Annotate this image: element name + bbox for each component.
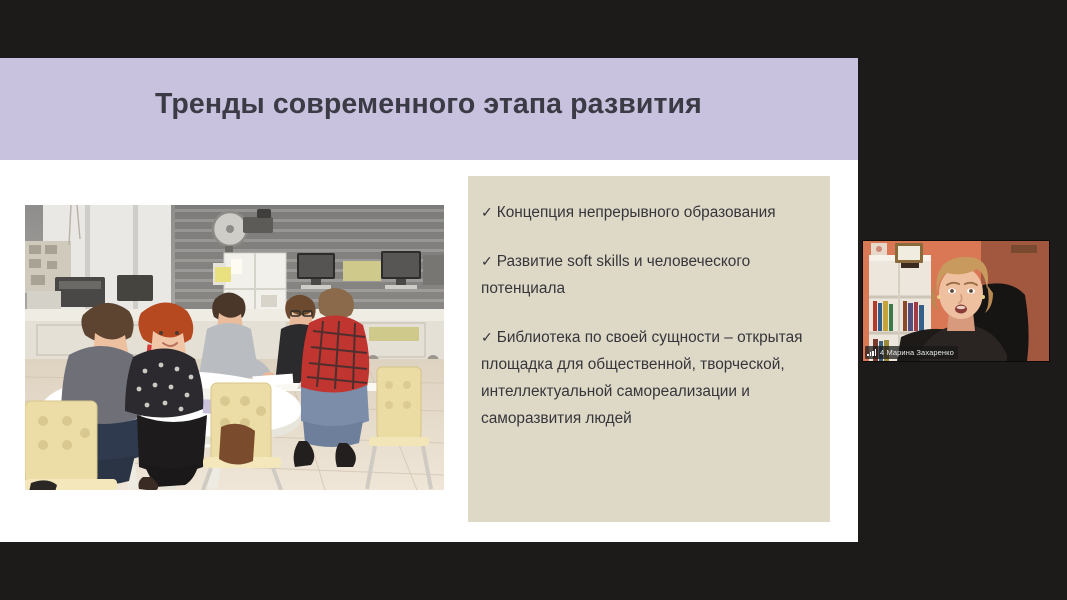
slide-bullet-item: ✓Библиотека по своей сущности – открытая…	[481, 324, 814, 432]
slide-title-band: Тренды современного этапа развития	[0, 58, 858, 160]
participant-video-tile[interactable]: 4 Марина Захаренко	[862, 240, 1050, 362]
check-icon: ✓	[481, 329, 493, 345]
slide-bullet-text: Концепция непрерывного образования	[497, 204, 776, 221]
slide-bullet-item: ✓Развитие soft skills и человеческого по…	[481, 248, 814, 302]
signal-bars-icon	[867, 349, 877, 356]
participant-name: 4 Марина Захаренко	[880, 348, 954, 357]
slide-bullet-item: ✓Концепция непрерывного образования	[481, 199, 814, 226]
shared-slide[interactable]: Тренды современного этапа развития	[0, 58, 858, 542]
check-icon: ✓	[481, 204, 493, 220]
slide-title: Тренды современного этапа развития	[155, 88, 702, 121]
slide-bullet-text: Библиотека по своей сущности – открытая …	[481, 329, 803, 427]
slide-bullet-text: Развитие soft skills и человеческого пот…	[481, 253, 750, 297]
participant-name-badge: 4 Марина Захаренко	[865, 346, 958, 359]
meeting-stage: Тренды современного этапа развития	[0, 0, 1067, 600]
check-icon: ✓	[481, 253, 493, 269]
slide-photo	[25, 205, 444, 490]
slide-bullet-panel: ✓Концепция непрерывного образования ✓Раз…	[468, 176, 830, 522]
